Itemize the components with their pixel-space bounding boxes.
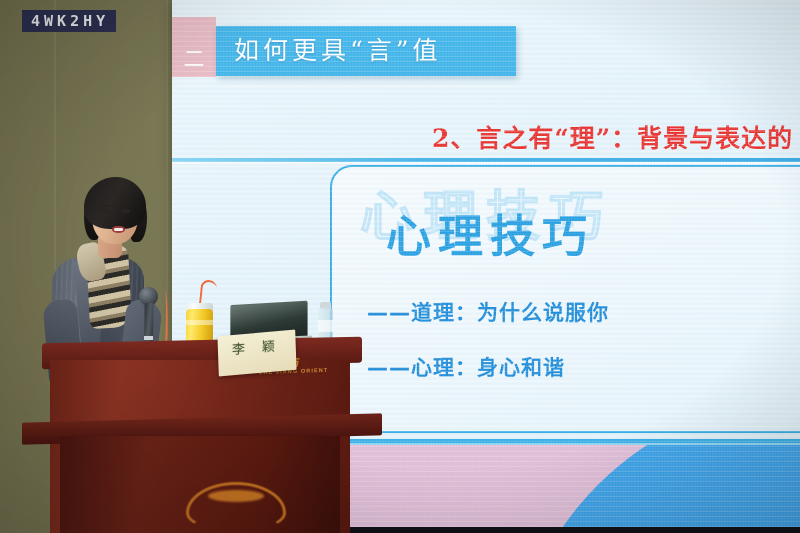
thermos-band: [186, 320, 213, 325]
nameplate-char-1: 李: [232, 343, 245, 358]
slide-bottom-accent-shape: [510, 445, 800, 527]
water-bottle-label: [318, 320, 333, 332]
slide-header-title: 如何更具“言”值: [234, 36, 514, 66]
speaker-teeth: [114, 228, 123, 231]
slide-bullet-2: ——心理：身心和谐: [367, 355, 565, 381]
slide-bullet-1: ——道理：为什么说服你: [367, 300, 609, 326]
microphone-switch: [144, 336, 153, 340]
image-watermark: 4WK2HY: [22, 10, 116, 32]
speaker-eye-right: [122, 209, 130, 213]
speaker-nameplate: 李 颖: [217, 330, 296, 377]
speaker-hair: [84, 177, 146, 229]
slide-section-number: 二: [178, 49, 210, 70]
speaker-eye-left: [101, 209, 109, 213]
slide-top-divider-highlight: [172, 162, 800, 164]
watermark-text: 4WK2HY: [31, 12, 109, 30]
slide-subsection-title: 2、言之有“理”：背景与表达的: [432, 124, 800, 154]
speaker-eyebrow-right: [121, 205, 130, 207]
slide-heading: 心理技巧: [386, 212, 594, 262]
slide-section-number-block: 二: [172, 17, 216, 77]
lectern-emblem-detail: [208, 490, 264, 502]
nameplate-char-2: 颖: [262, 341, 275, 356]
speaker-eyebrow-left: [100, 205, 109, 207]
